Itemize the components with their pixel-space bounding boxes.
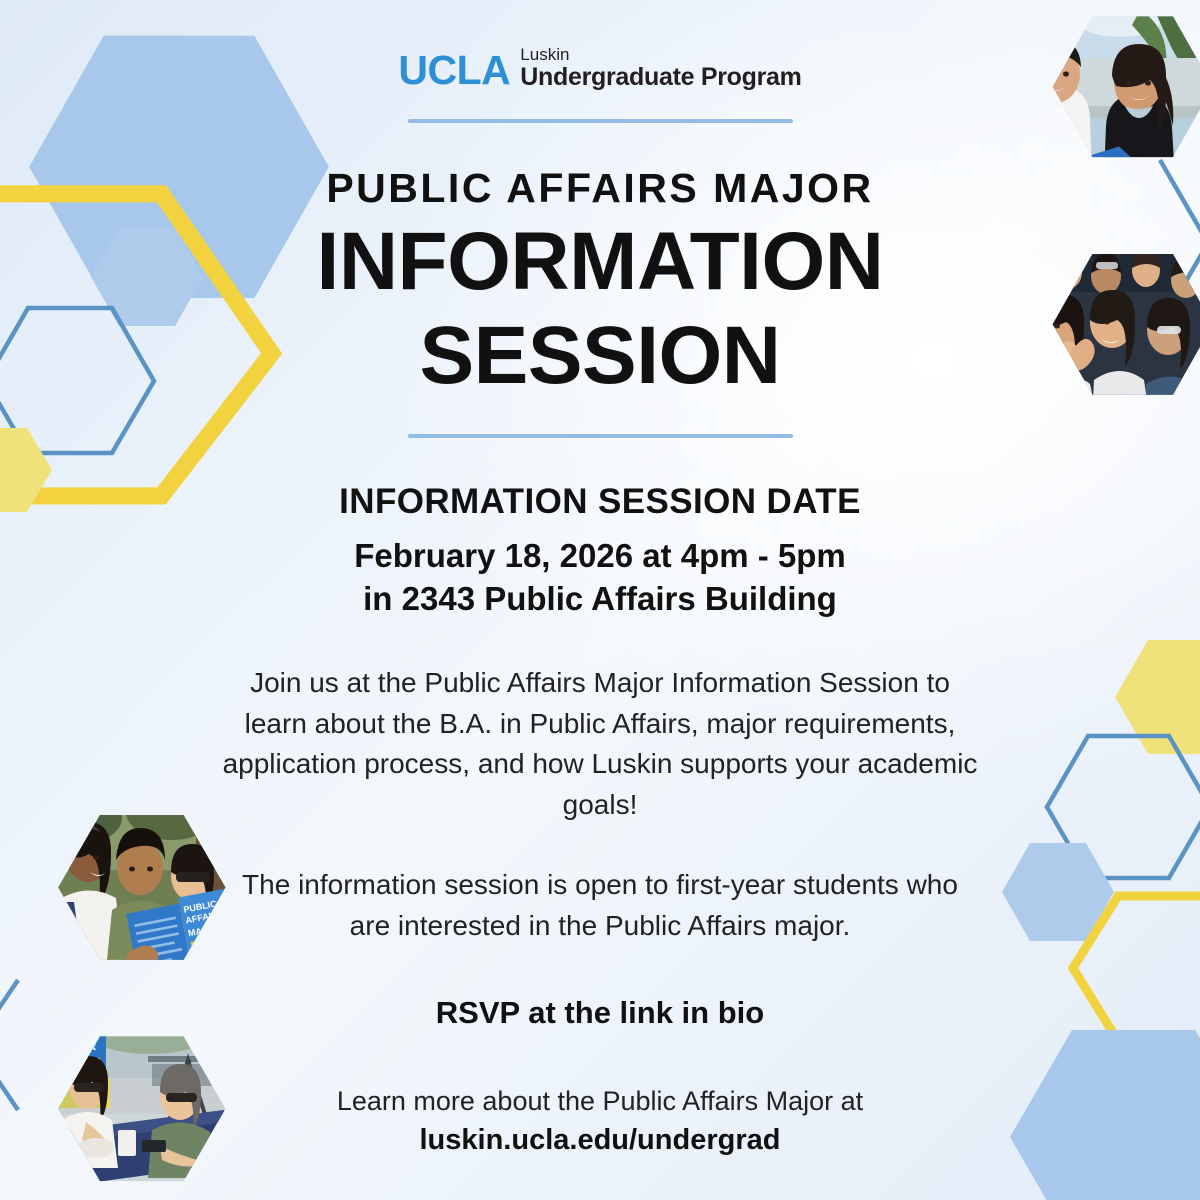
footer-url[interactable]: luskin.ucla.edu/undergrad bbox=[337, 1120, 863, 1160]
date-line-2: in 2343 Public Affairs Building bbox=[354, 577, 846, 621]
date-line-1: February 18, 2026 at 4pm - 5pm bbox=[354, 534, 846, 578]
footer-block: Learn more about the Public Affairs Majo… bbox=[337, 1083, 863, 1160]
flyer-content: UCLA Luskin Undergraduate Program PUBLIC… bbox=[0, 0, 1200, 1200]
main-title-line2: SESSION bbox=[419, 312, 780, 401]
luskin-school-label: Luskin bbox=[520, 46, 801, 64]
divider-middle bbox=[408, 434, 793, 438]
description-paragraph-2: The information session is open to first… bbox=[220, 865, 980, 946]
ucla-luskin-logo: UCLA Luskin Undergraduate Program bbox=[398, 46, 801, 91]
footer-learn-more: Learn more about the Public Affairs Majo… bbox=[337, 1086, 863, 1116]
description-paragraph-1: Join us at the Public Affairs Major Info… bbox=[220, 663, 980, 825]
main-title-line1: INFORMATION bbox=[317, 218, 884, 307]
rsvp-callout: RSVP at the link in bio bbox=[436, 995, 764, 1031]
date-heading: INFORMATION SESSION DATE bbox=[339, 482, 861, 522]
eyebrow-title: PUBLIC AFFAIRS MAJOR bbox=[326, 165, 873, 212]
undergraduate-program-label: Undergraduate Program bbox=[520, 65, 801, 90]
ucla-wordmark: UCLA bbox=[398, 50, 510, 91]
divider-top bbox=[408, 119, 793, 123]
